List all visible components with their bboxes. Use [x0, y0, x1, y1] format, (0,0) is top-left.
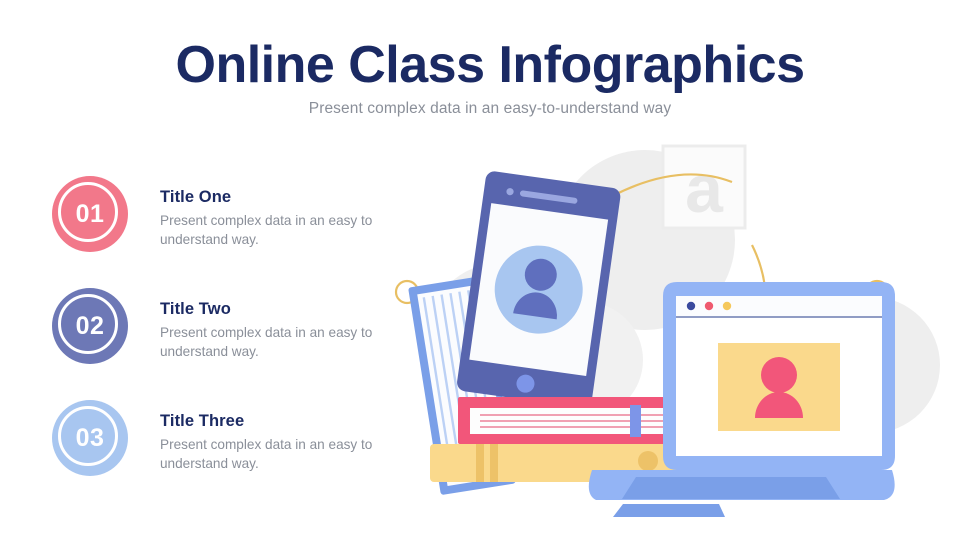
list-item-title: Title Three: [160, 412, 375, 431]
slide-header: Online Class Infographics Present comple…: [0, 38, 980, 118]
list-item-title: Title One: [160, 188, 375, 207]
online-class-illustration: a: [380, 120, 980, 540]
badge-number: 02: [76, 312, 105, 341]
badge-02: 02: [52, 288, 128, 364]
slide-canvas: Online Class Infographics Present comple…: [0, 0, 980, 551]
list-item[interactable]: 01 Title One Present complex data in an …: [48, 176, 378, 288]
list-item-description: Present complex data in an easy to under…: [160, 436, 375, 474]
list-item[interactable]: 03 Title Three Present complex data in a…: [48, 400, 378, 512]
browser-dot-navy-icon: [687, 302, 695, 310]
badge-number: 03: [76, 424, 105, 453]
list-item-description: Present complex data in an easy to under…: [160, 212, 375, 250]
letter-tile-icon: a: [663, 146, 745, 228]
list-item-text: Title Two Present complex data in an eas…: [160, 300, 375, 362]
browser-dot-pink-icon: [705, 302, 713, 310]
list-item-text: Title Three Present complex data in an e…: [160, 412, 375, 474]
badge-01: 01: [52, 176, 128, 252]
list-item-description: Present complex data in an easy to under…: [160, 324, 375, 362]
list-item-title: Title Two: [160, 300, 375, 319]
bookmark-icon: [630, 405, 641, 437]
browser-dot-yellow-icon: [723, 302, 731, 310]
infographic-list: 01 Title One Present complex data in an …: [48, 176, 378, 512]
list-item-text: Title One Present complex data in an eas…: [160, 188, 375, 250]
badge-number: 01: [76, 200, 105, 229]
badge-03: 03: [52, 400, 128, 476]
page-title: Online Class Infographics: [0, 38, 980, 93]
page-subtitle: Present complex data in an easy-to-under…: [0, 100, 980, 118]
letter-tile-glyph: a: [685, 151, 724, 227]
list-item[interactable]: 02 Title Two Present complex data in an …: [48, 288, 378, 400]
